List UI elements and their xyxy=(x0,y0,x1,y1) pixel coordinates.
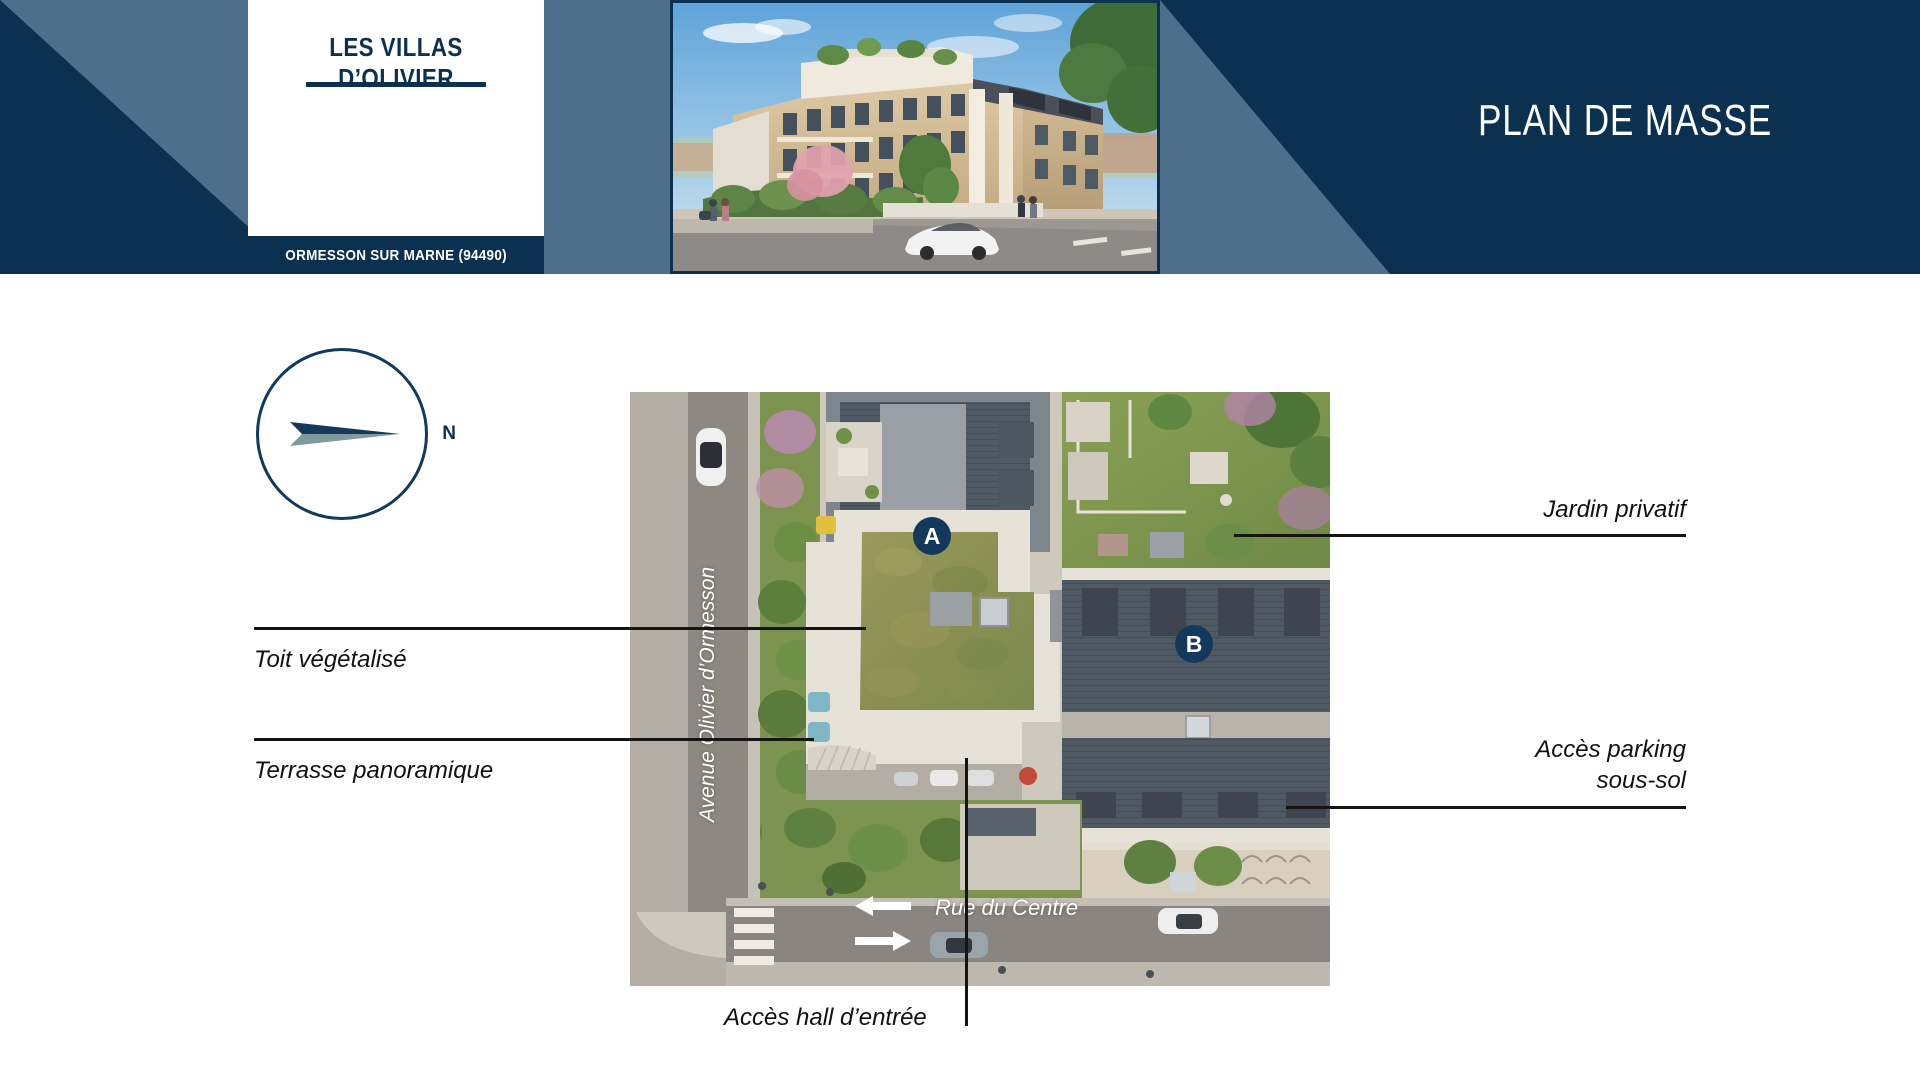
compass-north-label: N xyxy=(442,423,456,445)
plan-marker-b[interactable]: B xyxy=(1175,625,1213,663)
arrow-right-icon xyxy=(855,930,911,952)
plan-marker-a-label: A xyxy=(924,523,941,550)
logo-divider xyxy=(306,82,486,87)
leader-line-terrasse xyxy=(254,738,814,741)
building-render-photo xyxy=(670,0,1160,274)
leader-line-hall xyxy=(965,758,968,1026)
callout-acces-hall-entree: Accès hall d’entrée xyxy=(724,1003,927,1034)
road-label-avenue: Avenue Olivier d’Ormesson xyxy=(696,582,720,822)
callout-jardin-privatif: Jardin privatif xyxy=(1330,495,1686,526)
leader-line-parking xyxy=(1286,806,1686,809)
compass-ring xyxy=(256,348,428,520)
project-city-band: ORMESSON SUR MARNE (94490) xyxy=(248,236,544,274)
callout-terrasse-panoramique: Terrasse panoramique xyxy=(254,756,493,787)
project-logo-card: LES VILLAS D’OLIVIER ORMESSON SUR MARNE … xyxy=(248,0,544,274)
page-title: PLAN DE MASSE xyxy=(1437,96,1813,146)
slide-header: LES VILLAS D’OLIVIER ORMESSON SUR MARNE … xyxy=(0,0,1920,274)
callout-acces-parking-sous-sol: Accès parking sous-sol xyxy=(1280,735,1686,796)
header-slate-mid xyxy=(552,0,682,274)
callout-toit-vegetalise: Toit végétalisé xyxy=(254,645,407,676)
header-slate-triangle-right xyxy=(1160,0,1390,274)
leader-line-jardin xyxy=(1234,534,1686,537)
plan-marker-b-label: B xyxy=(1186,631,1203,658)
compass-rose: N xyxy=(256,348,428,520)
plan-marker-a[interactable]: A xyxy=(913,517,951,555)
project-city: ORMESSON SUR MARNE (94490) xyxy=(285,247,507,264)
arrow-left-icon xyxy=(855,895,911,917)
slide-plan-de-masse: LES VILLAS D’OLIVIER ORMESSON SUR MARNE … xyxy=(0,0,1920,1077)
leader-line-toit xyxy=(254,627,866,630)
road-label-rue-du-centre: Rue du Centre xyxy=(935,895,1078,921)
